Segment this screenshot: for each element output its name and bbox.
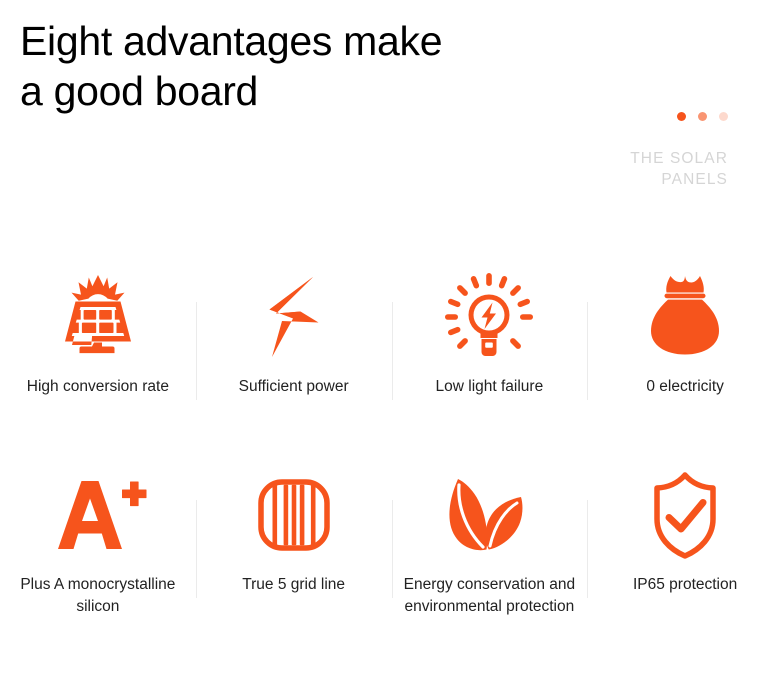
a-plus-grade-icon — [48, 456, 148, 574]
light-bulb-icon — [441, 258, 537, 376]
feature-row-2: Plus A monocrystalline silicon — [0, 456, 783, 662]
dot-indicator-medium — [698, 112, 707, 121]
feature-item-sufficient-power: Sufficient power — [196, 258, 392, 456]
money-bag-icon — [637, 258, 733, 376]
dot-indicator-active — [677, 112, 686, 121]
feature-label: Energy conservation and environmental pr… — [396, 574, 582, 618]
dot-indicator-group — [677, 112, 728, 121]
leaves-icon — [437, 456, 541, 574]
shield-check-icon — [637, 456, 733, 574]
page-title-line-2: a good board — [20, 66, 620, 116]
feature-grid: High conversion rate Sufficient power — [0, 258, 783, 662]
feature-row-1: High conversion rate Sufficient power — [0, 258, 783, 456]
feature-item-low-light-failure: Low light failure — [392, 258, 588, 456]
page-title: Eight advantages make a good board — [20, 16, 620, 116]
header: Eight advantages make a good board THE S… — [0, 0, 783, 210]
subtitle-line-1: THE SOLAR — [468, 148, 728, 169]
feature-item-energy-conservation: Energy conservation and environmental pr… — [392, 456, 588, 662]
feature-label: Plus A monocrystalline silicon — [9, 574, 187, 618]
feature-item-ip65-protection: IP65 protection — [587, 456, 783, 662]
feature-label: 0 electricity — [596, 376, 774, 398]
feature-label: True 5 grid line — [205, 574, 383, 596]
subtitle-line-2: PANELS — [468, 169, 728, 190]
advantages-infographic: Eight advantages make a good board THE S… — [0, 0, 783, 700]
feature-item-plus-a-monocrystalline-silicon: Plus A monocrystalline silicon — [0, 456, 196, 662]
subtitle: THE SOLAR PANELS — [468, 148, 728, 190]
feature-label: Sufficient power — [205, 376, 383, 398]
feature-label: High conversion rate — [9, 376, 187, 398]
feature-label: Low light failure — [400, 376, 578, 398]
dot-indicator-faint — [719, 112, 728, 121]
page-title-line-1: Eight advantages make — [20, 18, 442, 64]
lightning-bolt-icon — [246, 258, 342, 376]
feature-label: IP65 protection — [596, 574, 774, 596]
feature-item-zero-electricity: 0 electricity — [587, 258, 783, 456]
feature-item-high-conversion-rate: High conversion rate — [0, 258, 196, 456]
grid-line-cell-icon — [246, 456, 342, 574]
solar-panel-icon — [50, 258, 146, 376]
feature-item-true-5-grid-line: True 5 grid line — [196, 456, 392, 662]
